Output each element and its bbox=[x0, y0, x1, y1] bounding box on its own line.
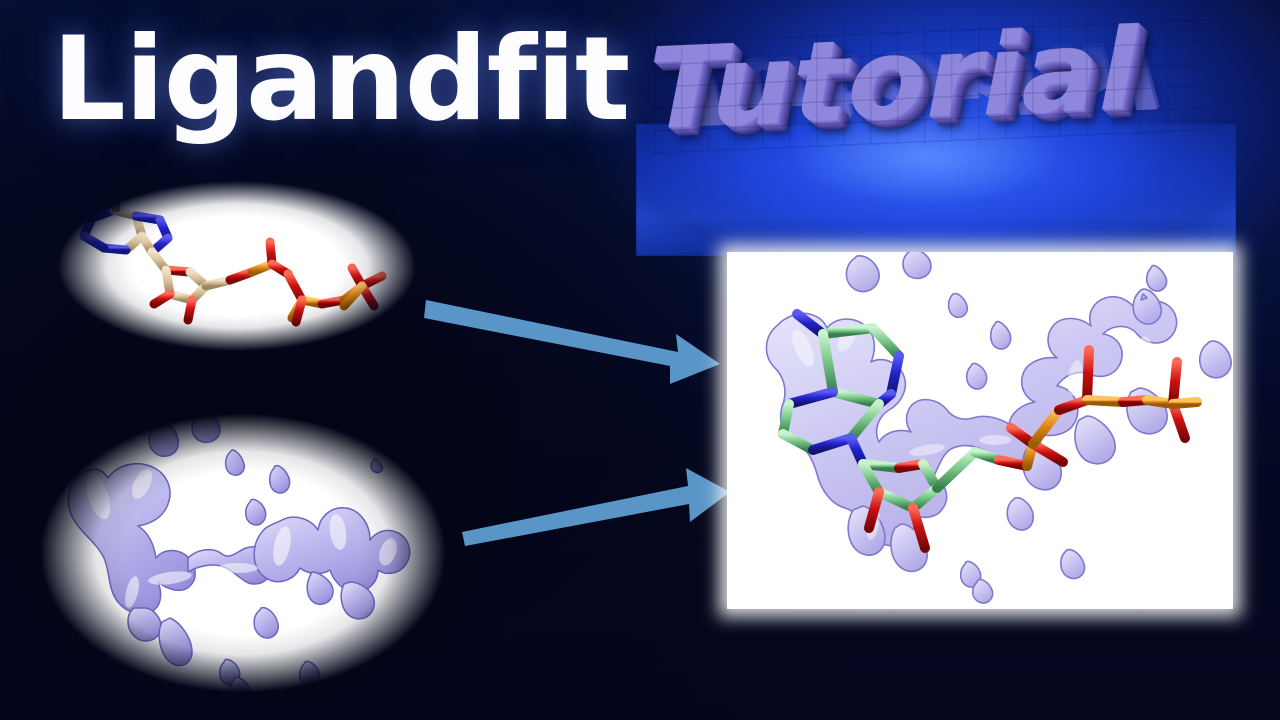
electron-density-map-panel bbox=[38, 412, 448, 694]
page-title: Ligandfit bbox=[52, 22, 629, 138]
fitted-ligand-in-density-panel bbox=[727, 252, 1233, 609]
fitted-result-svg bbox=[727, 252, 1233, 609]
arrow-density-to-result bbox=[440, 448, 740, 558]
electron-density-svg bbox=[38, 412, 448, 694]
tutorial-banner: Tutorial Tutorial bbox=[636, 6, 1236, 256]
arrow-ligand-to-result bbox=[420, 276, 730, 396]
ligand-stick-model-panel bbox=[56, 180, 418, 352]
ligand-stick-model-svg bbox=[56, 180, 418, 352]
slide-canvas: Tutorial Tutorial Ligandfit bbox=[0, 0, 1280, 720]
